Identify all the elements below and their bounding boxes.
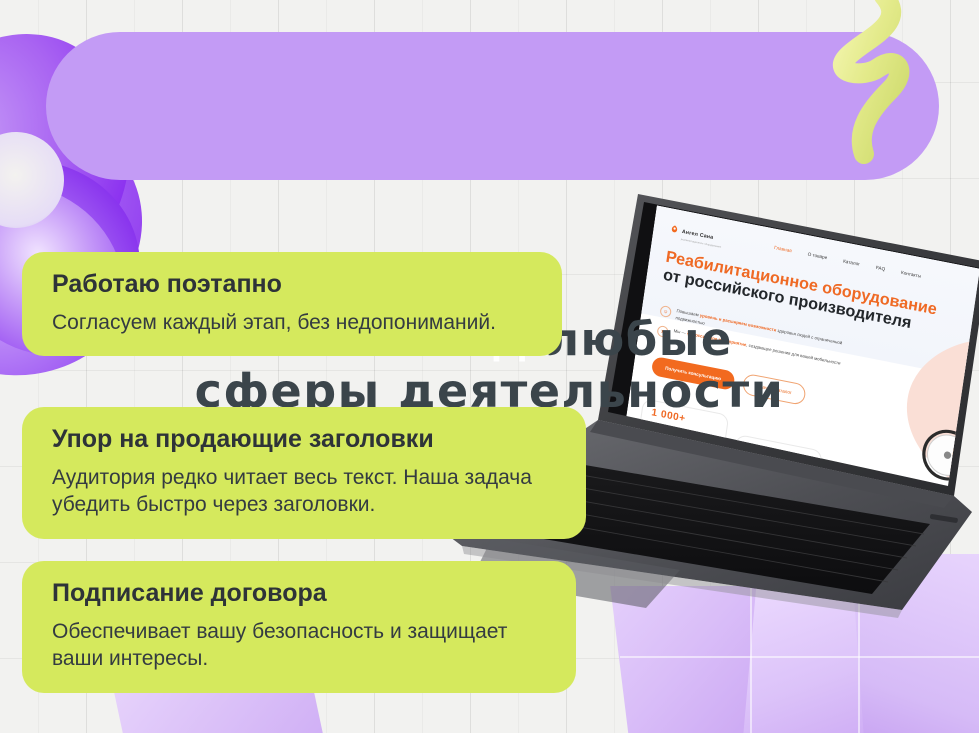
feature-card: Работаю поэтапно Согласуем каждый этап, … bbox=[22, 252, 562, 356]
title-part-dark: любые bbox=[546, 313, 733, 366]
feature-card-title: Упор на продающие заголовки bbox=[52, 425, 560, 455]
feature-card-body: Аудитория редко читает весь текст. Наша … bbox=[52, 464, 560, 520]
feature-card: Подписание договора Обеспечивает вашу бе… bbox=[22, 561, 576, 693]
feature-card-title: Работаю поэтапно bbox=[52, 270, 536, 300]
feature-card-body: Обеспечивает вашу безопасность и защищае… bbox=[52, 618, 550, 674]
feature-card-body: Согласуем каждый этап, без недопониманий… bbox=[52, 309, 536, 337]
slide-canvas: Ангел Сана реабилитационное оборудование… bbox=[0, 0, 979, 733]
feature-card-title: Подписание договора bbox=[52, 579, 550, 609]
feature-card: Упор на продающие заголовки Аудитория ре… bbox=[22, 407, 586, 539]
